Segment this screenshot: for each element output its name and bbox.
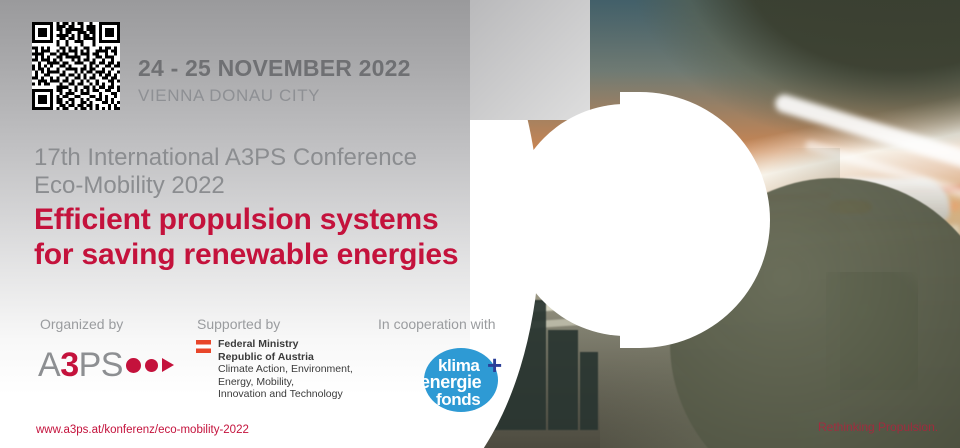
subtitle-line-1: 17th International A3PS Conference	[34, 144, 417, 172]
headline-line-1: Efficient propulsion systems	[34, 202, 458, 237]
event-location: VIENNA DONAU CITY	[138, 86, 320, 106]
conference-headline: Efficient propulsion systems for saving …	[34, 202, 458, 272]
federal-ministry-logo[interactable]: Federal Ministry Republic of Austria Cli…	[196, 338, 353, 401]
ministry-line-4: Energy, Mobility,	[218, 376, 353, 389]
in-cooperation-with-label: In cooperation with	[378, 316, 496, 332]
federal-ministry-text: Federal Ministry Republic of Austria Cli…	[218, 338, 353, 401]
logo-dot-icon	[126, 358, 141, 373]
city-tower	[548, 330, 578, 430]
logo-triangle-icon	[162, 358, 174, 372]
subtitle-line-2: Eco-Mobility 2022	[34, 172, 417, 200]
conference-banner: 24 - 25 NOVEMBER 2022 VIENNA DONAU CITY …	[0, 0, 960, 448]
a3ps-logo-dots	[126, 358, 174, 373]
austria-flag-icon	[196, 340, 211, 353]
ministry-line-2: Republic of Austria	[218, 351, 353, 364]
supported-by-label: Supported by	[197, 316, 280, 332]
qr-code[interactable]	[32, 22, 120, 110]
klima-logo-line-2: energie	[420, 373, 481, 391]
photo-collage	[470, 0, 960, 448]
ministry-line-5: Innovation and Technology	[218, 388, 353, 401]
corner-gradient-patch	[470, 0, 590, 120]
city-tower	[580, 352, 598, 430]
tagline: Rethinking Propulsion.	[818, 420, 938, 434]
ministry-line-1: Federal Ministry	[218, 338, 353, 351]
conference-url[interactable]: www.a3ps.at/konferenz/eco-mobility-2022	[36, 424, 249, 436]
a3ps-logo-ps: PS	[79, 348, 123, 382]
logo-dot-icon	[145, 359, 158, 372]
a3ps-logo-a: A	[38, 348, 60, 382]
a3ps-logo[interactable]: A 3 PS	[38, 348, 174, 382]
ministry-line-3: Climate Action, Environment,	[218, 363, 353, 376]
conference-subtitle: 17th International A3PS Conference Eco-M…	[34, 144, 417, 200]
a3ps-logo-3: 3	[60, 348, 78, 382]
klima-logo-line-3: fonds	[436, 391, 480, 408]
organized-by-label: Organized by	[40, 316, 123, 332]
klima-logo-plus-icon: +	[487, 352, 502, 378]
event-date: 24 - 25 NOVEMBER 2022	[138, 55, 411, 82]
headline-line-2: for saving renewable energies	[34, 237, 458, 272]
